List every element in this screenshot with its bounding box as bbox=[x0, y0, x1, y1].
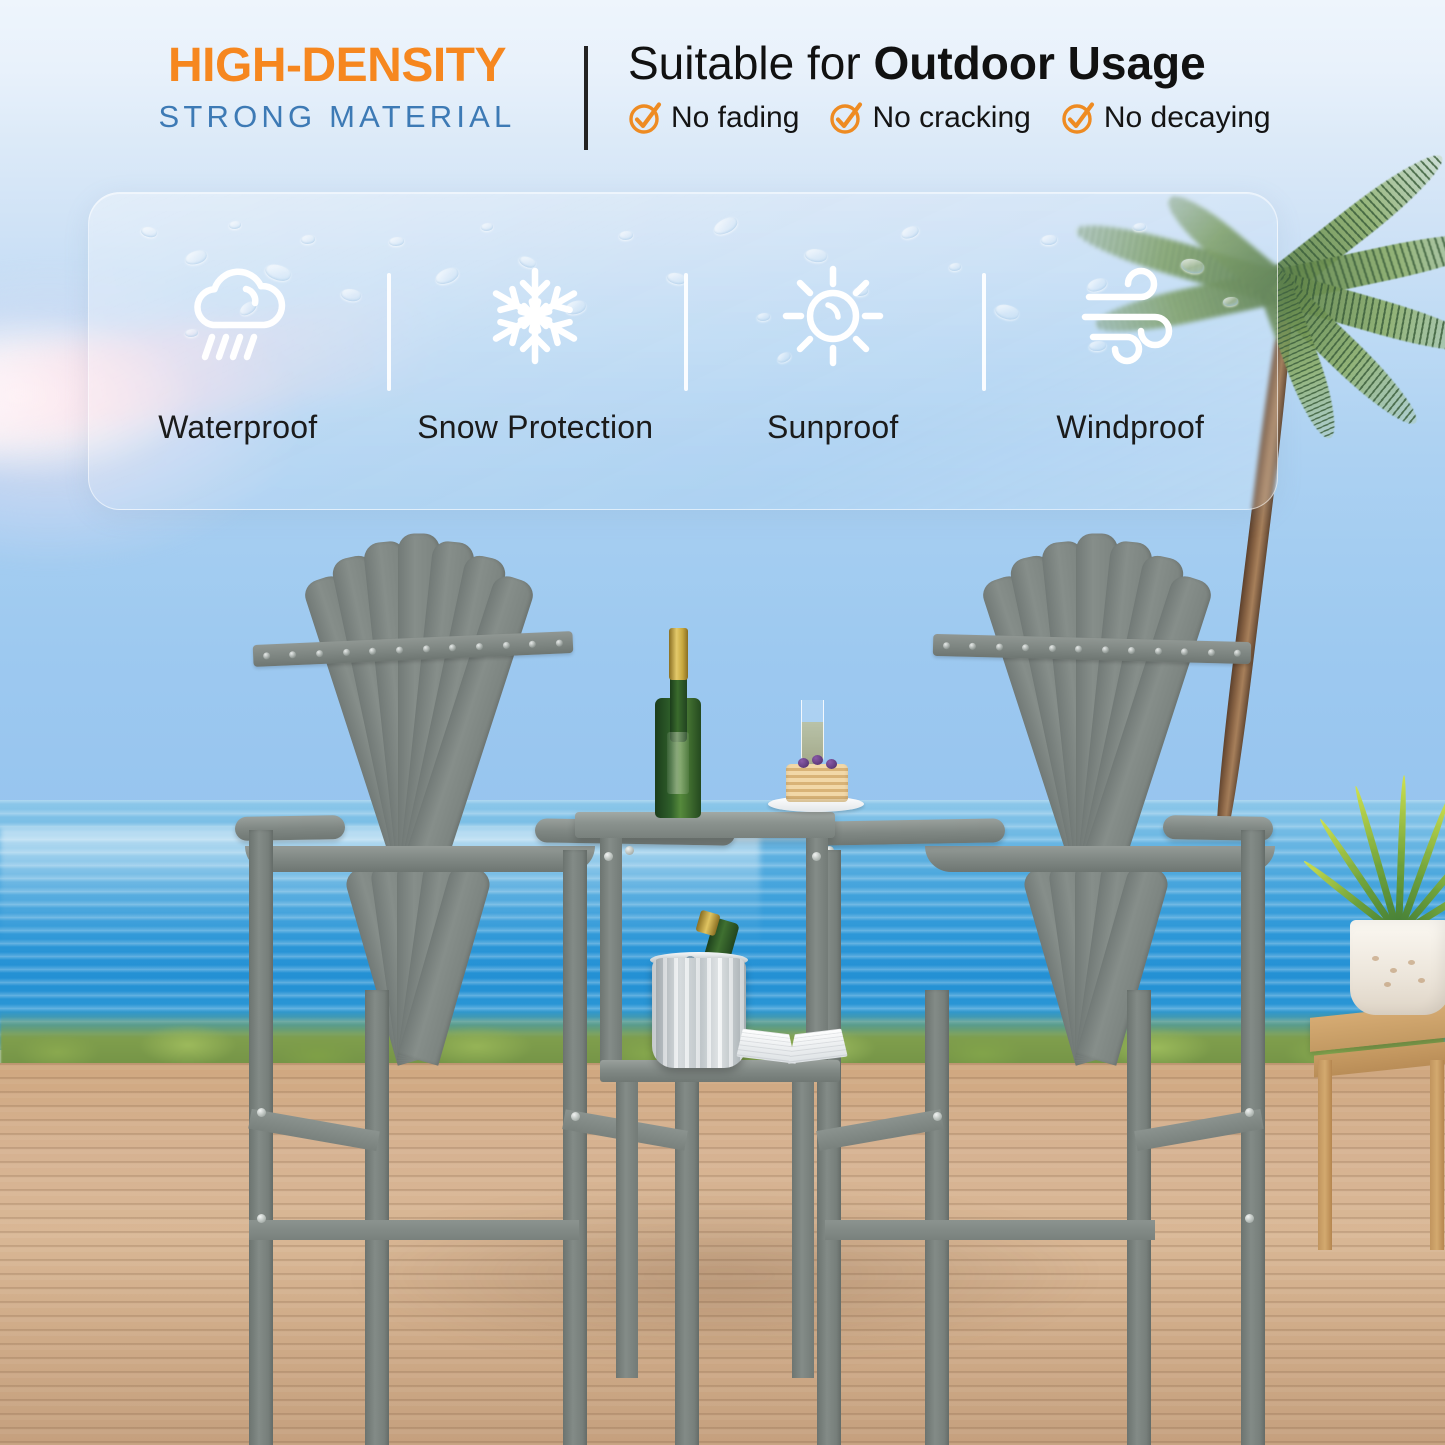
features-glass-panel: Waterproof bbox=[88, 192, 1278, 510]
feature-label: Snow Protection bbox=[417, 409, 653, 446]
page-title: HIGH-DENSITY bbox=[122, 40, 552, 92]
features-row: Waterproof bbox=[89, 251, 1279, 491]
ceramic-pot bbox=[1350, 920, 1445, 1015]
header-divider bbox=[584, 46, 588, 150]
potted-plant-foliage bbox=[1340, 760, 1445, 935]
wind-icon bbox=[1071, 257, 1189, 375]
table-leg bbox=[600, 838, 622, 1078]
chair-left-leg-front bbox=[249, 830, 273, 1445]
feature-label: Windproof bbox=[1056, 409, 1204, 446]
chair-right-leg-back bbox=[1127, 990, 1151, 1445]
benefit-label: No fading bbox=[671, 101, 799, 135]
product-marketing-image: Waterproof bbox=[0, 0, 1445, 1445]
feature-label: Sunproof bbox=[767, 409, 898, 446]
table-leg bbox=[792, 1078, 814, 1378]
chair-left-lower-back bbox=[265, 860, 595, 1060]
feature-windproof: Windproof bbox=[982, 251, 1280, 446]
check-circle-icon bbox=[1061, 101, 1095, 135]
chair-left-leg-right-front bbox=[563, 850, 587, 1445]
benefit-label: No decaying bbox=[1104, 101, 1271, 135]
feature-sunproof: Sunproof bbox=[684, 251, 982, 446]
table-leg bbox=[616, 1078, 638, 1378]
snowflake-icon bbox=[476, 257, 594, 375]
header-headline: Suitable for Outdoor Usage bbox=[628, 38, 1271, 89]
headline-regular: Suitable for bbox=[628, 37, 873, 89]
benefit-item: No cracking bbox=[829, 101, 1030, 135]
bench-leg bbox=[1318, 1060, 1332, 1250]
bench-leg bbox=[1430, 1060, 1444, 1250]
check-circle-icon bbox=[829, 101, 863, 135]
feature-waterproof: Waterproof bbox=[89, 251, 387, 446]
chair-right-arm-near bbox=[815, 818, 1005, 845]
chair-right-lower-back bbox=[945, 860, 1265, 1060]
feature-snow-protection: Snow Protection bbox=[387, 251, 685, 446]
chair-right-leg-left-back bbox=[925, 990, 949, 1445]
chair-right-leg-front bbox=[1241, 830, 1265, 1445]
chair-left-seat-edge bbox=[245, 846, 595, 872]
sun-icon bbox=[774, 257, 892, 375]
rain-cloud-icon bbox=[179, 257, 297, 375]
benefit-item: No fading bbox=[628, 101, 799, 135]
champagne-bottle bbox=[655, 628, 701, 818]
benefit-item: No decaying bbox=[1061, 101, 1271, 135]
page-subtitle: STRONG MATERIAL bbox=[122, 96, 552, 138]
ice-bucket bbox=[652, 940, 746, 1068]
header-right-block: Suitable for Outdoor Usage No fading bbox=[628, 38, 1271, 135]
wood-bench bbox=[1300, 1000, 1445, 1260]
benefit-list: No fading No cracking bbox=[628, 101, 1271, 135]
chair-right bbox=[905, 520, 1245, 1440]
chair-right-seat-edge bbox=[925, 846, 1275, 872]
benefit-label: No cracking bbox=[872, 101, 1030, 135]
header-banner: HIGH-DENSITY STRONG MATERIAL Suitable fo… bbox=[0, 0, 1445, 180]
open-book bbox=[740, 1024, 844, 1064]
header-left-block: HIGH-DENSITY STRONG MATERIAL bbox=[122, 40, 552, 138]
check-circle-icon bbox=[628, 101, 662, 135]
crepe-cake bbox=[786, 764, 848, 802]
chair-left bbox=[205, 520, 725, 1440]
chair-left-leg-back bbox=[365, 990, 389, 1445]
feature-label: Waterproof bbox=[158, 409, 317, 446]
headline-bold: Outdoor Usage bbox=[873, 37, 1205, 89]
